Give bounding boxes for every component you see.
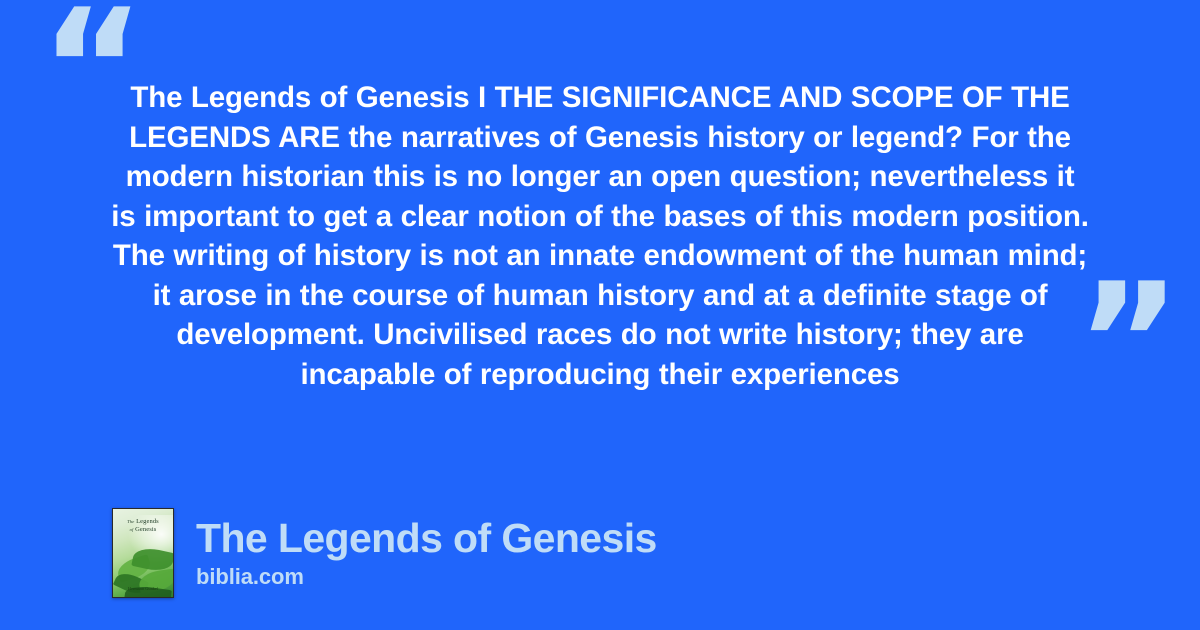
quote-card: “ The Legends of Genesis I THE SIGNIFICA…	[0, 0, 1200, 630]
book-cover-title: The Legends of Genesis	[113, 518, 173, 534]
book-cover-title-the: The	[127, 519, 134, 524]
book-cover-title-of: of	[130, 527, 134, 532]
book-cover-title-legends: Legends	[136, 518, 159, 525]
book-cover-title-genesis: Genesis	[135, 526, 156, 533]
book-cover-thumbnail: The Legends of Genesis Hermann Gunkel	[112, 508, 174, 598]
quote-text: The Legends of Genesis I THE SIGNIFICANC…	[110, 78, 1090, 394]
site-name[interactable]: biblia.com	[196, 563, 657, 591]
attribution-text-block: The Legends of Genesis biblia.com	[196, 515, 657, 591]
attribution-footer: The Legends of Genesis Hermann Gunkel Th…	[112, 508, 657, 598]
closing-quote-icon: ”	[1076, 262, 1181, 422]
book-cover-author: Hermann Gunkel	[113, 586, 173, 591]
book-title: The Legends of Genesis	[196, 515, 657, 561]
